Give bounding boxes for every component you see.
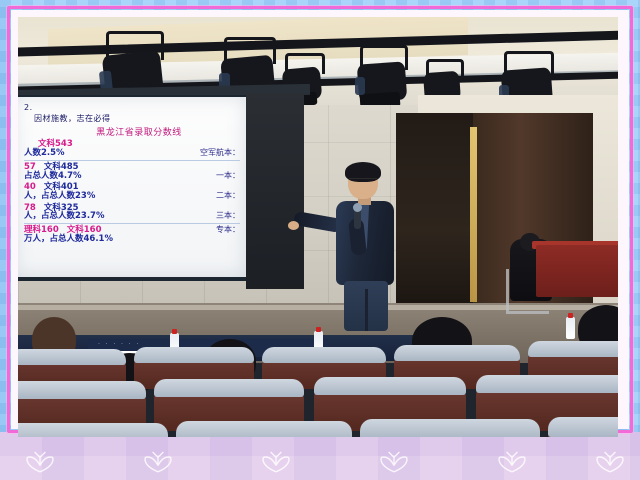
slide-row-tier: 二本： [216,192,240,200]
seat [176,421,352,437]
seat [134,347,254,363]
slide-row-percent: 人，占总人数23% [24,192,95,201]
speaker [318,165,410,327]
speaker-leg-gap [365,289,368,331]
speaker-hand [288,221,299,230]
banner-text: · · · · · · [98,341,140,347]
screen-shadow-panel [246,93,304,289]
floral-motif-icon [592,448,628,474]
slide-row: 万人，占总人数46.1% [24,235,240,244]
seat [18,381,146,399]
floral-motif-icon [376,448,412,474]
slide-row: 人，占总人数23% 二本： [24,192,240,201]
slide-title: 黑龙江省录取分数线 [38,125,240,138]
framed-photo: 2. 因材施教，志在必得 黑龙江省录取分数线 文科543 人数2.5% 空军航本… [0,0,640,480]
seat [18,349,126,365]
control-desk [536,245,618,297]
amber-light-strip [470,127,477,302]
seat [314,377,466,395]
photograph: 2. 因材施教，志在必得 黑龙江省录取分数线 文科543 人数2.5% 空军航本… [18,17,618,437]
seat [394,345,520,361]
seat [262,347,386,363]
microphone-head-icon [353,203,362,212]
slide-heading: 因材施教，志在必得 [34,113,240,124]
floral-motif-icon [22,448,58,474]
seat [528,341,618,357]
slide-row-tier: 三本： [216,212,240,220]
stage-light-icon [354,45,412,111]
seat [360,419,540,437]
slide-row: 人，占总人数23.7% 三本： [24,212,240,221]
floral-motif-icon [140,448,176,474]
glasses-icon [349,178,377,185]
slide-content: 2. 因材施教，志在必得 黑龙江省录取分数线 文科543 人数2.5% 空军航本… [18,99,246,275]
slide-row-percent: 万人，占总人数46.1% [24,235,113,244]
frame-bottom-pattern [0,432,640,480]
water-bottle [566,317,575,339]
slide-line-marker: 2. [24,103,240,112]
seat [154,379,304,397]
slide-row: 人数2.5% 空军航本： [24,149,240,158]
slide-row-tier: 专本： [216,226,240,234]
slide-row-percent: 人，占总人数23.7% [24,212,105,221]
seat [18,423,168,437]
floral-motif-icon [494,448,530,474]
slide-row-tier: 空军航本： [200,149,240,157]
slide-row-tier: 一本： [216,172,240,180]
slide-divider [24,160,240,161]
seat [548,417,618,437]
seat [476,375,618,393]
slide-row-percent: 占总人数4.7% [24,172,82,181]
slide-row: 占总人数4.7% 一本： [24,172,240,181]
floral-motif-icon [258,448,294,474]
slide-divider [24,223,240,224]
slide-row-percent: 人数2.5% [24,149,65,158]
